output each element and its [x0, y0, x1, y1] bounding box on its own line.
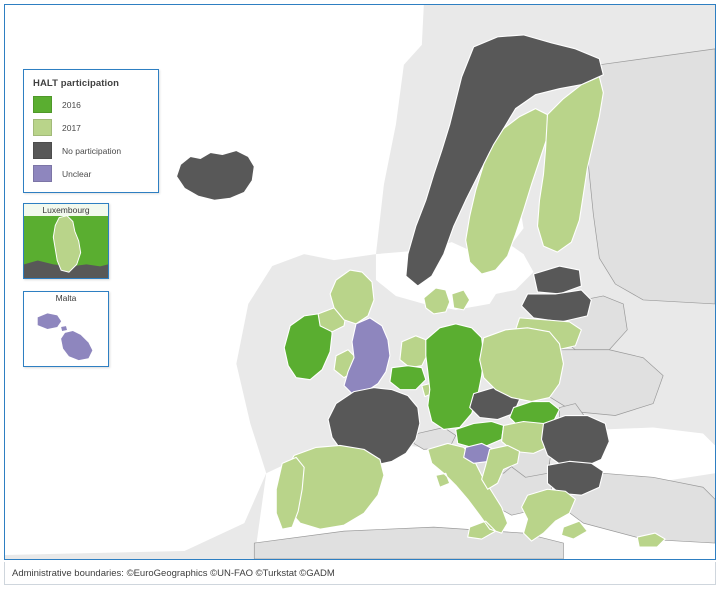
legend-item-no-participation: No participation: [33, 142, 149, 159]
legend-swatch-2017: [33, 119, 52, 136]
country-latvia: [522, 290, 592, 322]
legend-item-2017: 2017: [33, 119, 149, 136]
country-netherlands: [400, 336, 428, 368]
map-frame: .cb{stroke:#9a9a9a;stroke-width:.7;strok…: [4, 4, 716, 560]
source-text: Administrative boundaries: ©EuroGeograph…: [12, 568, 335, 579]
legend-swatch-unclear: [33, 165, 52, 182]
inset-luxembourg-label: Luxembourg: [24, 204, 108, 216]
source-footer: Administrative boundaries: ©EuroGeograph…: [4, 562, 716, 585]
country-denmark: [424, 288, 470, 314]
country-russia: [587, 49, 715, 304]
legend: HALT participation 2016 2017 No particip…: [23, 69, 159, 193]
legend-swatch-2016: [33, 96, 52, 113]
legend-item-2016: 2016: [33, 96, 149, 113]
legend-label-no-participation: No participation: [62, 146, 121, 156]
map-page: .cb{stroke:#9a9a9a;stroke-width:.7;strok…: [0, 0, 720, 589]
legend-label-2017: 2017: [62, 123, 81, 133]
legend-label-unclear: Unclear: [62, 169, 91, 179]
legend-swatch-no-participation: [33, 142, 52, 159]
inset-malta-label: Malta: [24, 292, 108, 304]
inset-luxembourg: Luxembourg: [23, 203, 109, 279]
legend-label-2016: 2016: [62, 100, 81, 110]
legend-title: HALT participation: [33, 78, 149, 89]
legend-item-unclear: Unclear: [33, 165, 149, 182]
inset-malta: Malta: [23, 291, 109, 367]
